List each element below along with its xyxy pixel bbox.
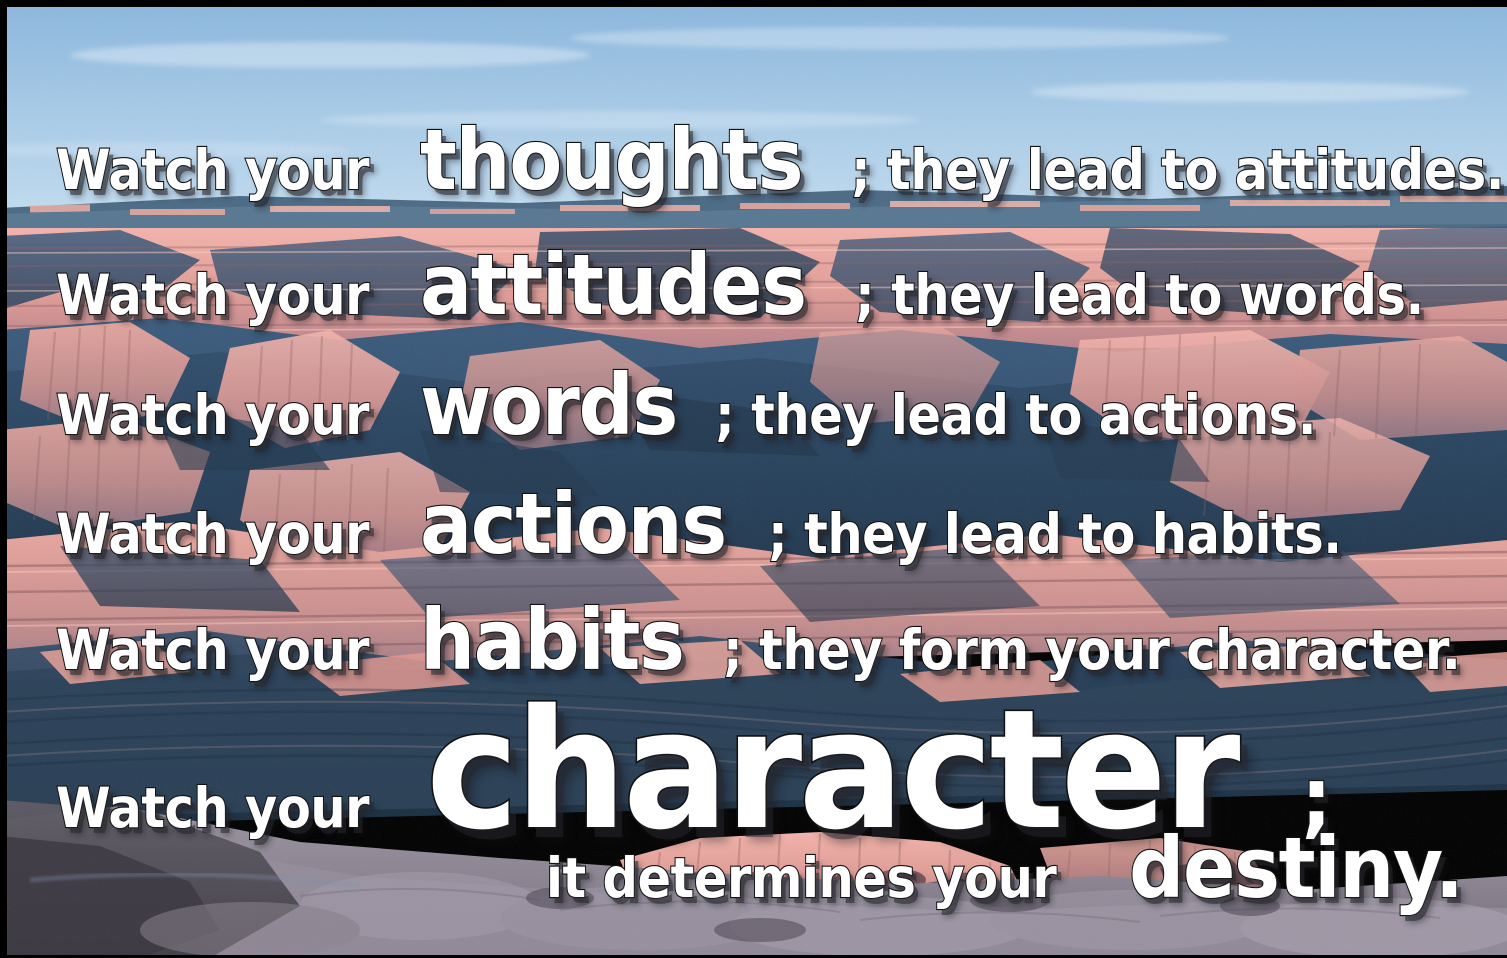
quote-line-5-keyword: habits <box>420 598 684 682</box>
quote-line-5-prefix: Watch your <box>56 623 369 678</box>
quote-line-3-keyword: words <box>420 363 677 447</box>
quote-line-3: Watch your words ; they lead to actions. <box>56 363 1507 447</box>
quote-line-2-prefix: Watch your <box>56 268 369 323</box>
quote-line-5: Watch your habits ; they form your chara… <box>56 598 1507 682</box>
quote-line-6-prefix: Watch your <box>56 781 369 836</box>
quote-line-3-prefix: Watch your <box>56 388 369 443</box>
quote-line-2: Watch your attitudes ; they lead to word… <box>56 243 1507 327</box>
quote-text-overlay: Watch your thoughts ; they lead to attit… <box>0 0 1507 958</box>
quote-line-1-prefix: Watch your <box>56 143 369 198</box>
quote-line-3-suffix: ; they lead to actions. <box>715 388 1316 443</box>
quote-line-7-prefix: it determines your <box>546 851 1056 906</box>
quote-line-4-suffix: ; they lead to habits. <box>768 507 1342 562</box>
quote-line-4: Watch your actions ; they lead to habits… <box>56 482 1507 566</box>
quote-line-4-prefix: Watch your <box>56 507 369 562</box>
quote-line-1-suffix: ; they lead to attitudes. <box>851 143 1504 198</box>
quote-poster: Watch your thoughts ; they lead to attit… <box>0 0 1507 958</box>
quote-line-1: Watch your thoughts ; they lead to attit… <box>56 118 1507 202</box>
quote-line-7-keyword: destiny. <box>1129 826 1463 910</box>
quote-line-4-keyword: actions <box>420 482 726 566</box>
quote-line-1-keyword: thoughts <box>420 118 802 202</box>
quote-line-7: it determines your destiny. <box>546 826 1507 910</box>
quote-line-5-suffix: ; they form your character. <box>723 623 1460 678</box>
quote-line-2-suffix: ; they lead to words. <box>855 268 1424 323</box>
quote-line-2-keyword: attitudes <box>420 243 806 327</box>
